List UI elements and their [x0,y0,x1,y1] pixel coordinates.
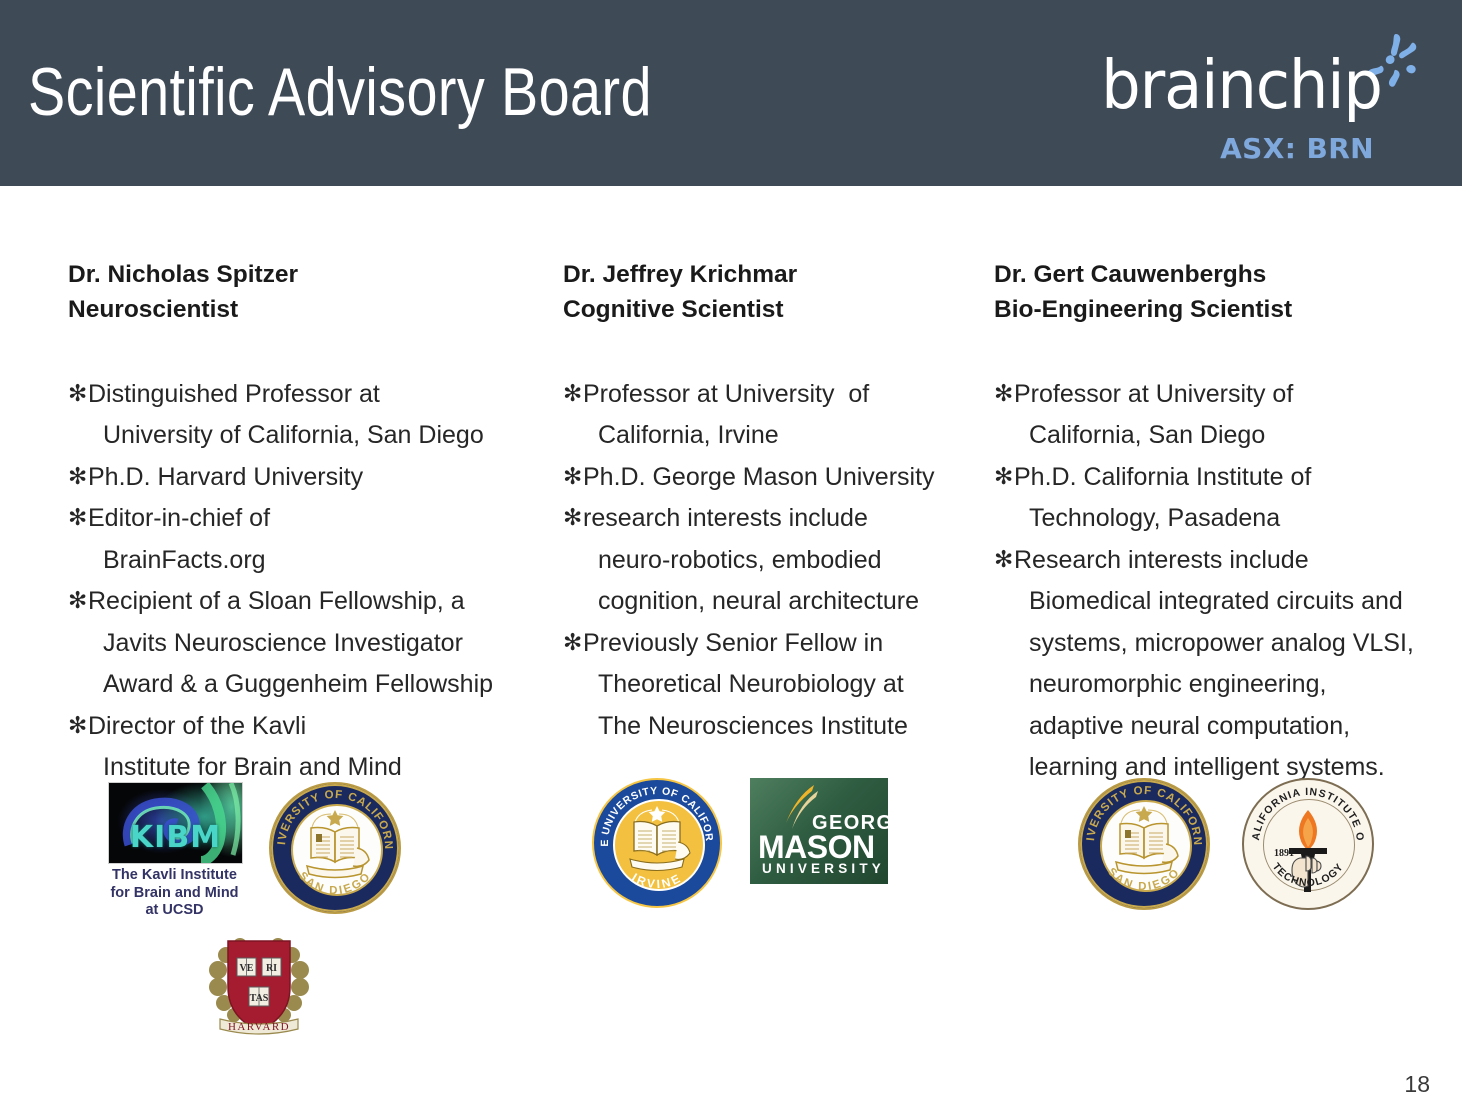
advisor-name: Dr. Nicholas Spitzer [68,258,538,293]
kibm-mark-text: KIBM [109,820,242,855]
bullet-line: systems, micropower analog VLSI, [1014,623,1444,665]
asterisk-bullet-icon: ✻ [563,498,583,540]
bullet-line: Research interests include [1014,540,1444,582]
logo-row-col2: THE UNIVERSITY OF CALIFORNIA IRVINE GEOR… [592,778,888,908]
list-item: ✻ Recipient of a Sloan Fellowship, a Jav… [68,581,538,706]
svg-text:RI: RI [266,963,277,974]
list-item: ✻ Research interests include Biomedical … [994,540,1444,789]
bullet-line: University of California, San Diego [88,415,538,457]
uci-seal-logo: THE UNIVERSITY OF CALIFORNIA IRVINE [592,778,722,908]
advisor-role: Neuroscientist [68,293,538,328]
list-item: ✻ Professor at University of California,… [994,374,1444,457]
asterisk-bullet-icon: ✻ [68,374,88,416]
bullet-line: Theoretical Neurobiology at [583,664,963,706]
list-item: ✻ Ph.D. California Institute of Technolo… [994,457,1444,540]
svg-text:TAS: TAS [250,993,269,1004]
bullet-line: research interests include [583,498,963,540]
bullet-line: adaptive neural computation, [1014,706,1444,748]
harvard-seal-logo: VE RI TAS HARVARD [198,925,320,1043]
logo-row-col1-top: KIBM The Kavli Institute for Brain and M… [108,782,401,920]
svg-text:HARVARD: HARVARD [228,1021,290,1033]
bullet-line: Ph.D. George Mason University [583,457,963,499]
list-item: ✻ Editor-in-chief of BrainFacts.org [68,498,538,581]
list-item: ✻ Director of the Kavli Institute for Br… [68,706,538,789]
asterisk-bullet-icon: ✻ [68,498,88,540]
logo-row-col3: UNIVERSITY OF CALIFORNIA SAN DIEGO [1078,778,1374,910]
svg-text:1891: 1891 [1274,848,1294,859]
advisor-role: Cognitive Scientist [563,293,963,328]
ucsd-book-icon-2 [1080,780,1208,908]
advisor-column-1: Dr. Nicholas Spitzer Neuroscientist ✻ Di… [68,258,538,789]
kibm-logo: KIBM The Kavli Institute for Brain and M… [108,782,241,920]
bullet-line: Recipient of a Sloan Fellowship, a [88,581,538,623]
caltech-torch-icon: 1891 [1244,780,1372,908]
brand-wordmark: brainchip [1101,52,1382,119]
svg-text:VE: VE [240,963,254,974]
advisor-column-2: Dr. Jeffrey Krichmar Cognitive Scientist… [563,258,963,747]
bullet-line: Director of the Kavli [88,706,538,748]
brand-ticker: ASX: BRN [1220,132,1374,165]
bullet-line: Distinguished Professor at [88,374,538,416]
caltech-seal-logo: 1891 CALIFORNIA INSTITUTE OF TECHNOLOGY [1242,778,1374,910]
asterisk-bullet-icon: ✻ [563,457,583,499]
asterisk-bullet-icon: ✻ [563,623,583,665]
list-item: ✻ Ph.D. George Mason University [563,457,963,499]
bullet-line: Professor at University of [583,374,963,416]
ucsd-book-icon [271,784,399,912]
advisor-bullet-list: ✻ Professor at University of California,… [994,374,1444,789]
header-band: Scientific Advisory Board brainchip ASX:… [0,0,1462,186]
list-item: ✻ Previously Senior Fellow in Theoretica… [563,623,963,748]
advisor-column-3: Dr. Gert Cauwenberghs Bio-Engineering Sc… [994,258,1444,789]
asterisk-bullet-icon: ✻ [994,374,1014,416]
george-mason-logo: GEORGE MASON UNIVERSITY [750,778,888,884]
bullet-line: neuromorphic engineering, [1014,664,1444,706]
page-number: 18 [1404,1071,1430,1098]
gmu-line-university: UNIVERSITY [762,861,885,876]
bullet-line: Ph.D. Harvard University [88,457,538,499]
bullet-line: Professor at University of [1014,374,1444,416]
bullet-line: Editor-in-chief of [88,498,538,540]
list-item: ✻ Professor at University of California,… [563,374,963,457]
asterisk-bullet-icon: ✻ [994,457,1014,499]
harvard-shield-icon: VE RI TAS HARVARD [198,925,320,1043]
bullet-line: neuro-robotics, embodied [583,540,963,582]
ucsd-seal-logo-2: UNIVERSITY OF CALIFORNIA SAN DIEGO [1078,778,1210,910]
list-item: ✻ research interests include neuro-robot… [563,498,963,623]
list-item: ✻ Ph.D. Harvard University [68,457,538,499]
advisor-bullet-list: ✻ Professor at University of California,… [563,374,963,748]
asterisk-bullet-icon: ✻ [994,540,1014,582]
kibm-brain-image: KIBM [108,782,243,864]
bullet-line: cognition, neural architecture [583,581,963,623]
bullet-line: Javits Neuroscience Investigator [88,623,538,665]
advisor-bullet-list: ✻ Distinguished Professor at University … [68,374,538,789]
brand-logo: brainchip ASX: BRN [1146,24,1426,164]
asterisk-bullet-icon: ✻ [68,581,88,623]
bullet-line: BrainFacts.org [88,540,538,582]
bullet-line: The Neurosciences Institute [583,706,963,748]
bullet-line: Ph.D. California Institute of [1014,457,1444,499]
uci-book-icon [594,780,720,906]
asterisk-bullet-icon: ✻ [68,706,88,748]
logo-row-col1-bottom: VE RI TAS HARVARD [198,925,320,1043]
advisor-name: Dr. Gert Cauwenberghs [994,258,1444,293]
bullet-line: Previously Senior Fellow in [583,623,963,665]
bullet-line: California, San Diego [1014,415,1444,457]
bullet-line: Biomedical integrated circuits and [1014,581,1444,623]
bullet-line: California, Irvine [583,415,963,457]
list-item: ✻ Distinguished Professor at University … [68,374,538,457]
asterisk-bullet-icon: ✻ [563,374,583,416]
kibm-caption: The Kavli Institute for Brain and Mind a… [108,867,241,920]
ucsd-seal-logo: UNIVERSITY OF CALIFORNIA SAN DIEGO [269,782,401,914]
bullet-line: Technology, Pasadena [1014,498,1444,540]
page-title: Scientific Advisory Board [28,58,652,126]
slide-canvas: Scientific Advisory Board brainchip ASX:… [0,0,1462,1116]
advisor-role: Bio-Engineering Scientist [994,293,1444,328]
asterisk-bullet-icon: ✻ [68,457,88,499]
advisor-name: Dr. Jeffrey Krichmar [563,258,963,293]
bullet-line: Award & a Guggenheim Fellowship [88,664,538,706]
